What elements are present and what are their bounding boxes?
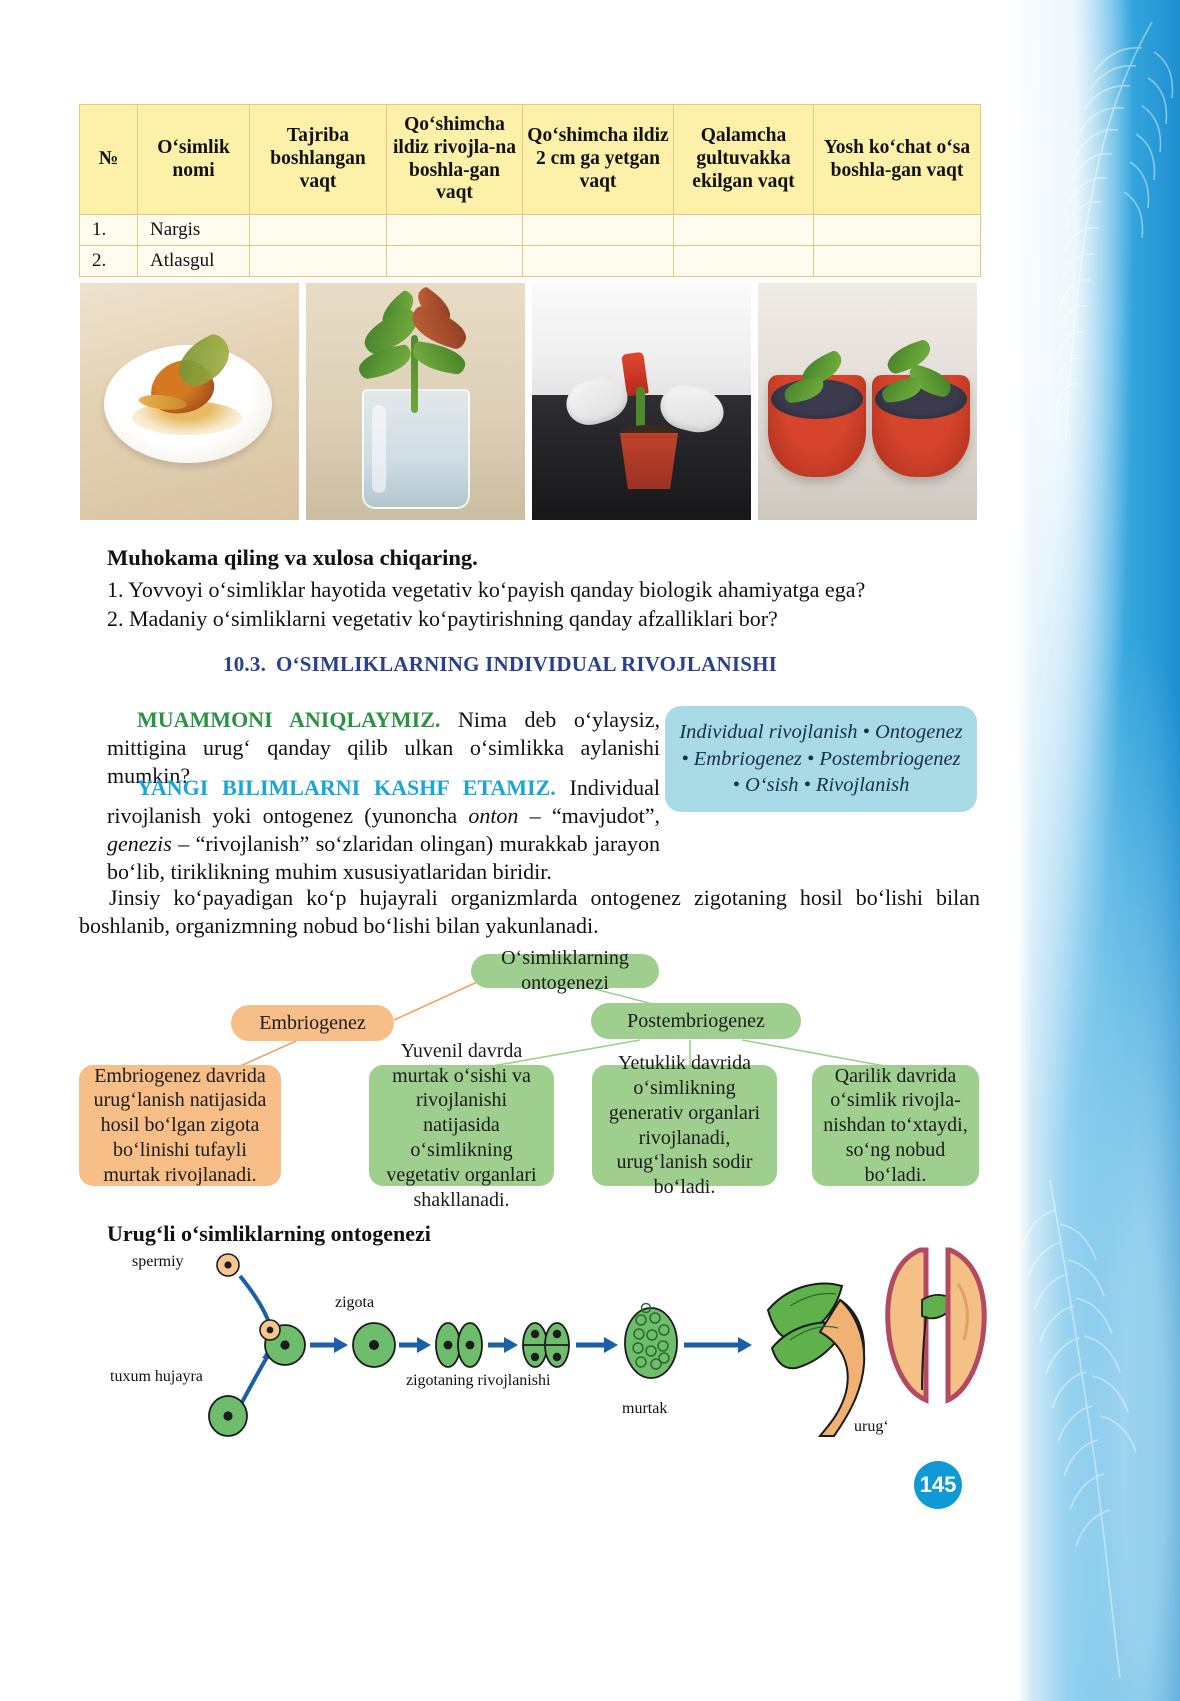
seed-icon-right xyxy=(948,1250,984,1400)
cell-root-development-start[interactable] xyxy=(387,246,523,277)
discovery-italic-onton: onton xyxy=(468,803,518,828)
concept-detail-box-embryogenesis: Embriogenez davrida urug‘lanish natijasi… xyxy=(79,1065,281,1186)
experiment-table-wrapper: № O‘simlik nomi Tajriba boshlangan vaqt … xyxy=(79,104,980,277)
experiment-table: № O‘simlik nomi Tajriba boshlangan vaqt … xyxy=(79,104,981,277)
four-cell-stage-icon xyxy=(523,1323,569,1367)
th-number: № xyxy=(80,105,138,215)
discussion-question-1: 1. Yovvoyi o‘simliklar hayotida vegetati… xyxy=(107,577,865,603)
page-number-badge: 145 xyxy=(914,1461,962,1509)
key-terms-box: Individual rivojlanish • Ontogenez • Emb… xyxy=(665,706,977,812)
seedling-icon xyxy=(768,1284,864,1436)
multicellular-embryo-icon xyxy=(625,1304,677,1379)
table-row: 1. Nargis xyxy=(80,215,981,246)
th-root-development-start: Qo‘shimcha ildiz rivojla-na boshla-gan v… xyxy=(387,105,523,215)
arrow-to-zygote xyxy=(310,1337,348,1353)
cell-experiment-start[interactable] xyxy=(250,246,387,277)
cell-row-number: 1. xyxy=(80,215,138,246)
concept-detail-box-maturity: Yetuklik davrida o‘simlikning generativ … xyxy=(592,1065,777,1186)
table-header-row: № O‘simlik nomi Tajriba boshlangan vaqt … xyxy=(80,105,981,215)
discovery-italic-genezis: genezis xyxy=(107,831,172,856)
decorative-edge-strip xyxy=(1000,0,1180,1701)
th-seedling-growth-start: Yosh ko‘chat o‘sa boshla-gan vaqt xyxy=(814,105,981,215)
concept-node-root: O‘simliklarning ontogenezi xyxy=(471,954,659,988)
photo-hands-planting xyxy=(532,283,751,520)
discussion-heading: Muhokama qiling va xulosa chiqaring. xyxy=(107,545,478,571)
concept-detail-box-embryogenesis-text: Embriogenez davrida urug‘lanish natijasi… xyxy=(89,1064,271,1188)
ontogenesis-paragraph: Jinsiy ko‘payadigan ko‘p hujayrali organ… xyxy=(79,884,980,940)
concept-node-root-label: O‘simliklarning ontogenezi xyxy=(481,946,649,996)
zygote-icon xyxy=(353,1323,395,1367)
cell-root-development-start[interactable] xyxy=(387,215,523,246)
th-experiment-start: Tajriba boshlangan vaqt xyxy=(250,105,387,215)
cell-seedling-growth-start[interactable] xyxy=(814,246,981,277)
th-root-2cm: Qo‘shimcha ildiz 2 cm ga yetgan vaqt xyxy=(523,105,674,215)
concept-detail-box-juvenile: Yuvenil davrda murtak o‘sishi va rivojla… xyxy=(369,1065,554,1186)
cell-plant-name[interactable]: Atlasgul xyxy=(138,246,250,277)
cell-planted-in-pot[interactable] xyxy=(674,246,814,277)
fern-leaf-icon-bottom xyxy=(1010,1180,1180,1680)
cell-experiment-start[interactable] xyxy=(250,215,387,246)
arrow-4cell-to-morula xyxy=(576,1337,618,1353)
photo-cutting-in-water xyxy=(306,283,525,520)
concept-detail-box-senescence: Qarilik davrida o‘simlik rivojla-nishdan… xyxy=(812,1065,979,1186)
discovery-lead-label: YANGI BILIMLARNI KASHF ETAMIZ. xyxy=(137,775,556,800)
two-cell-stage-icon xyxy=(436,1323,482,1367)
egg-cell-icon xyxy=(209,1396,247,1436)
photo-bulb-on-dish xyxy=(80,283,299,520)
photo-two-pots-seedlings xyxy=(758,283,977,520)
problem-lead-label: MUAMMONI ANIQLAYMIZ. xyxy=(137,707,440,732)
discovery-paragraph: YANGI BILIMLARNI KASHF ETAMIZ. Individua… xyxy=(107,774,660,887)
discovery-text-3: – “rivojlanish” so‘zlaridan olingan) mur… xyxy=(107,831,660,884)
concept-node-postembriogenez-label: Postembriogenez xyxy=(627,1009,765,1034)
cell-seedling-growth-start[interactable] xyxy=(814,215,981,246)
arrow-2cell-to-4cell xyxy=(488,1337,518,1353)
sperm-cell-icon xyxy=(217,1254,239,1276)
concept-detail-box-senescence-text: Qarilik davrida o‘simlik rivojla-nishdan… xyxy=(822,1064,969,1188)
concept-detail-box-juvenile-text: Yuvenil davrda murtak o‘sishi va rivojla… xyxy=(379,1039,544,1213)
th-planted-in-pot: Qalamcha gultuvakka ekilgan vaqt xyxy=(674,105,814,215)
cell-root-2cm[interactable] xyxy=(523,246,674,277)
arrow-morula-to-seedling xyxy=(684,1337,752,1353)
ontogeny-diagram-graphic xyxy=(0,1240,1010,1460)
cell-planted-in-pot[interactable] xyxy=(674,215,814,246)
fern-leaf-icon-top xyxy=(1002,22,1178,442)
ontogenesis-paragraph-text: Jinsiy ko‘payadigan ko‘p hujayrali organ… xyxy=(79,885,980,938)
section-heading: 10.3.O‘SIMLIKLARNING INDIVIDUAL RIVOJLAN… xyxy=(0,652,1000,677)
arrow-zygote-to-2cell xyxy=(399,1337,431,1353)
section-number: 10.3. xyxy=(223,652,266,676)
concept-node-embriogenez: Embriogenez xyxy=(231,1005,394,1041)
section-title: O‘SIMLIKLARNING INDIVIDUAL RIVOJLANISHI xyxy=(276,652,777,676)
concept-node-embriogenez-label: Embriogenez xyxy=(259,1011,366,1036)
discussion-question-2: 2. Madaniy o‘simliklarni vegetativ ko‘pa… xyxy=(107,606,778,632)
table-row: 2. Atlasgul xyxy=(80,246,981,277)
leaf-shape xyxy=(356,344,414,381)
cell-root-2cm[interactable] xyxy=(523,215,674,246)
concept-map: O‘simliklarning ontogenezi Embriogenez P… xyxy=(0,948,1000,1198)
cell-row-number: 2. xyxy=(80,246,138,277)
key-terms-text: Individual rivojlanish • Ontogenez • Emb… xyxy=(679,719,963,799)
discovery-text-2: – “mavjudot”, xyxy=(518,803,660,828)
th-plant-name: O‘simlik nomi xyxy=(138,105,250,215)
concept-node-postembriogenez: Postembriogenez xyxy=(591,1003,801,1039)
cell-plant-name[interactable]: Nargis xyxy=(138,215,250,246)
concept-detail-box-maturity-text: Yetuklik davrida o‘simlikning generativ … xyxy=(602,1051,767,1200)
photo-strip xyxy=(80,283,980,520)
